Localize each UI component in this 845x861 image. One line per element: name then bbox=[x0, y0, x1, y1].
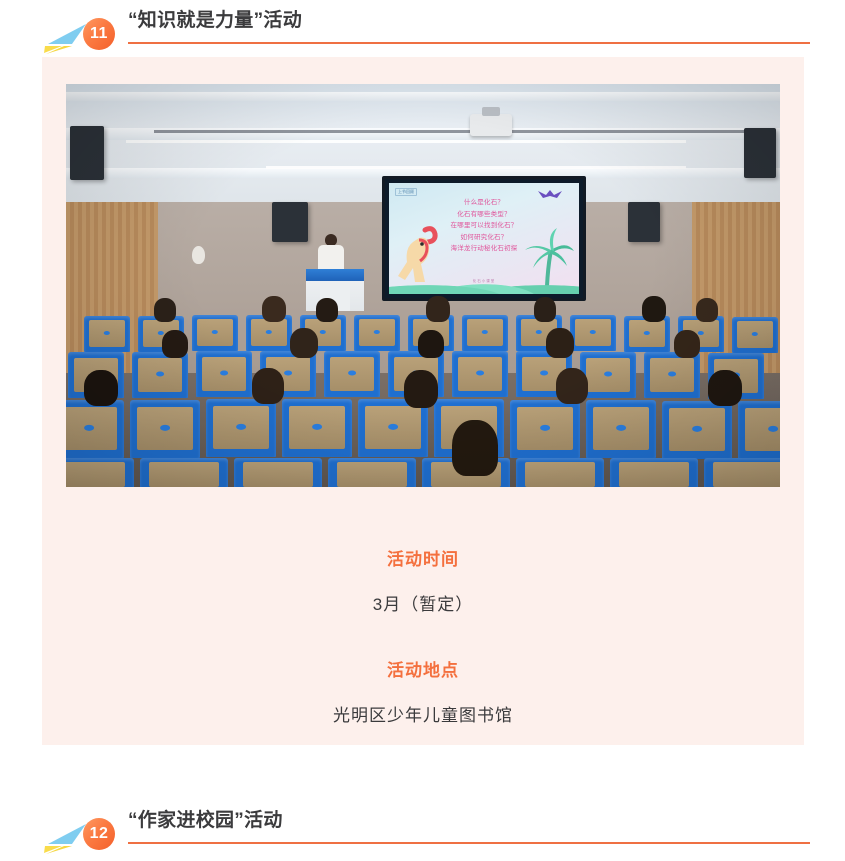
activity-photo: 上节回顾 什么是化石？ 化石有哪些类型？ 在哪里可以找到化石？ 如何研究化石？ … bbox=[66, 84, 780, 487]
seat bbox=[462, 315, 508, 351]
slide-line: 化石有哪些类型？ bbox=[389, 209, 579, 221]
audience-member bbox=[290, 328, 318, 358]
seat bbox=[732, 317, 778, 353]
title-underline bbox=[128, 42, 810, 44]
field-value: 3月（暂定） bbox=[42, 590, 804, 615]
seat bbox=[140, 458, 228, 487]
field-label: 活动地点 bbox=[42, 656, 804, 681]
projection-screen: 上节回顾 什么是化石？ 化石有哪些类型？ 在哪里可以找到化石？ 如何研究化石？ … bbox=[382, 176, 586, 301]
seat-part bbox=[525, 462, 595, 487]
seat bbox=[510, 400, 580, 458]
section-badge-number: 11 bbox=[90, 26, 108, 42]
audience-member bbox=[696, 298, 718, 322]
field-block-time: 活动时间 3月（暂定） bbox=[42, 545, 804, 615]
seat-part bbox=[284, 371, 292, 376]
section-badge-12: 12 bbox=[83, 818, 115, 850]
section-badge-number: 12 bbox=[90, 826, 109, 842]
section-title-block-11: “知识就是力量”活动 bbox=[128, 6, 810, 44]
audience-member bbox=[252, 368, 284, 404]
audience-member bbox=[426, 296, 450, 322]
audience-member bbox=[534, 297, 556, 322]
seat bbox=[196, 351, 252, 397]
ceiling-light-strip bbox=[126, 140, 686, 143]
audience-member bbox=[708, 370, 742, 406]
audience-member bbox=[452, 420, 498, 476]
ceiling-band bbox=[66, 92, 780, 101]
section-header-11: 11 “知识就是力量”活动 bbox=[0, 6, 845, 58]
seat bbox=[452, 351, 508, 397]
section-title-block-12: “作家进校园”活动 bbox=[128, 806, 810, 844]
seat-part bbox=[476, 371, 484, 376]
audience-member bbox=[556, 368, 588, 404]
field-label: 活动时间 bbox=[42, 545, 804, 570]
seat bbox=[354, 315, 400, 351]
section-header-12: 12 “作家进校园”活动 bbox=[0, 806, 845, 858]
seat bbox=[66, 400, 124, 458]
ceiling-light-strip bbox=[154, 130, 754, 133]
seat bbox=[130, 400, 200, 458]
seat bbox=[234, 458, 322, 487]
seat bbox=[738, 401, 780, 459]
wall-speaker-icon bbox=[70, 126, 104, 180]
wall-speaker-icon bbox=[744, 128, 776, 178]
seat bbox=[586, 400, 656, 458]
security-camera-icon bbox=[192, 246, 205, 264]
audience-member bbox=[674, 330, 700, 358]
seat-part bbox=[66, 462, 125, 487]
seat bbox=[282, 399, 352, 457]
seat-part bbox=[149, 462, 219, 487]
seat bbox=[84, 316, 130, 352]
seat bbox=[206, 399, 276, 457]
title-underline bbox=[128, 842, 810, 844]
triangle-arrow-icon bbox=[42, 22, 88, 56]
seat bbox=[66, 458, 134, 487]
seat bbox=[662, 401, 732, 459]
seat bbox=[328, 458, 416, 487]
seat bbox=[704, 458, 780, 487]
seat bbox=[610, 458, 698, 487]
triangle-arrow-icon bbox=[42, 822, 88, 856]
seat-part bbox=[619, 462, 689, 487]
audience-member bbox=[162, 330, 188, 358]
ceiling-light-strip bbox=[266, 166, 686, 169]
seat bbox=[324, 351, 380, 397]
seat-part bbox=[604, 372, 612, 377]
seat-part bbox=[348, 371, 356, 376]
section-badge-11: 11 bbox=[83, 18, 115, 50]
ceiling-projector-icon bbox=[470, 114, 512, 136]
audience-member bbox=[84, 370, 118, 406]
seat bbox=[516, 458, 604, 487]
seat-part bbox=[156, 372, 164, 377]
seat-part bbox=[220, 371, 228, 376]
audience-member bbox=[546, 328, 574, 358]
seat bbox=[570, 315, 616, 351]
seat-part bbox=[713, 462, 780, 487]
audience-member bbox=[642, 296, 666, 322]
seat-part bbox=[243, 462, 313, 487]
field-value: 光明区少年儿童图书馆 bbox=[42, 701, 804, 726]
field-block-location: 活动地点 光明区少年儿童图书馆 bbox=[42, 656, 804, 726]
seat bbox=[192, 315, 238, 351]
seat-part bbox=[540, 371, 548, 376]
seat bbox=[580, 352, 636, 398]
slide-content: 上节回顾 什么是化石？ 化石有哪些类型？ 在哪里可以找到化石？ 如何研究化石？ … bbox=[389, 183, 579, 294]
seat bbox=[644, 352, 700, 398]
audience-member bbox=[418, 330, 444, 358]
page-title: “知识就是力量”活动 bbox=[128, 6, 810, 36]
slide-line: 什么是化石？ bbox=[389, 197, 579, 209]
wall-speaker-icon bbox=[628, 202, 660, 242]
audience-member bbox=[154, 298, 176, 322]
wall-speaker-icon bbox=[272, 202, 308, 242]
activity-card: 上节回顾 什么是化石？ 化石有哪些类型？ 在哪里可以找到化石？ 如何研究化石？ … bbox=[42, 57, 804, 745]
seat-part bbox=[337, 462, 407, 487]
presenter bbox=[318, 234, 344, 274]
seat bbox=[132, 352, 188, 398]
slide-tag: 上节回顾 bbox=[395, 188, 417, 196]
audience-member bbox=[404, 370, 438, 408]
page-title: “作家进校园”活动 bbox=[128, 806, 810, 836]
audience-member bbox=[262, 296, 286, 322]
slide-grass bbox=[389, 272, 579, 294]
audience-member bbox=[316, 298, 338, 322]
seat-part bbox=[668, 372, 676, 377]
